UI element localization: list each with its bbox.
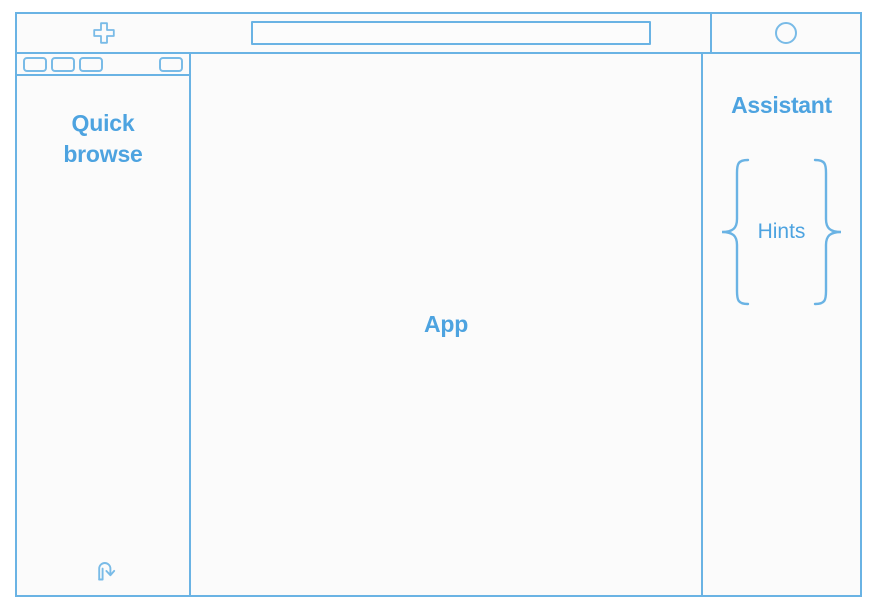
plus-icon bbox=[93, 22, 115, 44]
sidebar-title-line-1: Quick bbox=[63, 108, 142, 139]
search-input[interactable] bbox=[251, 21, 651, 45]
header-bar bbox=[17, 14, 860, 54]
circle-avatar-icon bbox=[775, 22, 797, 44]
toolbar-chip-3[interactable] bbox=[79, 57, 103, 72]
search-zone bbox=[191, 14, 710, 52]
app-pane: App bbox=[191, 54, 703, 595]
hints-label: Hints bbox=[752, 220, 812, 244]
sidebar-title: Quick browse bbox=[63, 108, 142, 170]
toolbar-chip-1[interactable] bbox=[23, 57, 47, 72]
toolbar-chip-2[interactable] bbox=[51, 57, 75, 72]
sidebar: Quick browse bbox=[17, 54, 191, 595]
brace-left-icon bbox=[718, 157, 752, 307]
add-button[interactable] bbox=[17, 14, 191, 52]
hints-block: Hints bbox=[718, 157, 846, 307]
sidebar-toolbar bbox=[17, 54, 189, 76]
u-turn-arrow-icon[interactable] bbox=[93, 557, 119, 583]
sidebar-content: Quick browse bbox=[17, 76, 189, 595]
sidebar-footer bbox=[17, 557, 189, 595]
wireframe-window: Quick browse App Assistant bbox=[15, 12, 862, 597]
sidebar-title-line-2: browse bbox=[63, 139, 142, 170]
app-label: App bbox=[424, 311, 468, 338]
body-row: Quick browse App Assistant bbox=[17, 54, 860, 595]
avatar-zone[interactable] bbox=[710, 14, 860, 52]
assistant-pane: Assistant Hints bbox=[703, 54, 860, 595]
toolbar-chip-4[interactable] bbox=[159, 57, 183, 72]
brace-right-icon bbox=[811, 157, 845, 307]
assistant-title: Assistant bbox=[731, 92, 832, 119]
